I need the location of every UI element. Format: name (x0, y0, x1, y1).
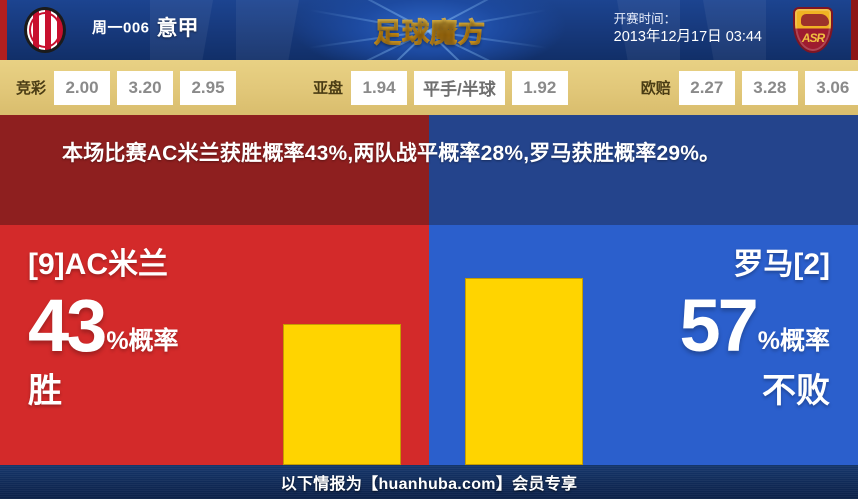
kickoff-time: 2013年12月17日 03:44 (614, 28, 762, 47)
away-probability-row: 57 %概率 (679, 289, 830, 363)
odds-cell-draw[interactable]: 3.28 (742, 71, 798, 105)
odds-bar: 竞彩 2.00 3.20 2.95 亚盘 1.94 平手/半球 1.92 欧赔 … (0, 60, 858, 115)
home-outcome-label: 胜 (28, 369, 179, 413)
odds-cell-away[interactable]: 2.95 (180, 71, 236, 105)
home-probability-value: 43 (28, 289, 104, 363)
odds-cell-home[interactable]: 1.94 (351, 71, 407, 105)
home-team-name: [9]AC米兰 (28, 245, 179, 285)
odds-cell-away[interactable]: 1.92 (512, 71, 568, 105)
odds-cell-handicap[interactable]: 平手/半球 (414, 71, 505, 105)
infographic-root: 周一006意甲 足球魔方 开赛时间： 2013年12月17日 03:44 ASR… (0, 0, 858, 499)
footer-text: 以下情报为【huanhuba.com】会员专享 (281, 470, 578, 494)
summary-band: 本场比赛AC米兰获胜概率43%,两队战平概率28%,罗马获胜概率29%。 (0, 115, 858, 225)
home-probability-bar (283, 324, 401, 465)
site-logo-text: 足球魔方 (374, 11, 486, 50)
odds-group-european: 欧赔 2.27 3.28 3.06 (641, 71, 858, 105)
away-team-crest-icon: ASR (790, 7, 836, 53)
kickoff-block: 开赛时间： 2013年12月17日 03:44 (614, 11, 762, 47)
odds-cell-home[interactable]: 2.27 (679, 71, 735, 105)
home-team-crest-icon (22, 7, 68, 53)
probability-chart: [9]AC米兰 43 %概率 胜 罗马[2] 57 %概率 不败 (0, 225, 858, 465)
away-stats: 罗马[2] 57 %概率 不败 (679, 245, 830, 413)
summary-text: 本场比赛AC米兰获胜概率43%,两队战平概率28%,罗马获胜概率29%。 (62, 137, 804, 171)
match-label: 周一006意甲 (92, 12, 199, 42)
site-logo: 足球魔方 (355, 8, 505, 52)
away-probability-bar (465, 278, 583, 465)
header-bar: 周一006意甲 足球魔方 开赛时间： 2013年12月17日 03:44 ASR (0, 0, 858, 60)
odds-cell-away[interactable]: 3.06 (805, 71, 858, 105)
footer-bar: 以下情报为【huanhuba.com】会员专享 (0, 465, 858, 499)
odds-group-label: 亚盘 (313, 77, 343, 98)
away-probability-value: 57 (679, 289, 755, 363)
header-left-edge (0, 0, 7, 60)
odds-group-asian-handicap: 亚盘 1.94 平手/半球 1.92 (313, 71, 575, 105)
match-round: 周一006 (92, 20, 150, 37)
home-probability-row: 43 %概率 (28, 289, 179, 363)
away-team-name: 罗马[2] (679, 245, 830, 285)
home-stats: [9]AC米兰 43 %概率 胜 (28, 245, 179, 413)
odds-group-label: 竞彩 (16, 77, 46, 98)
odds-group-jingcai: 竞彩 2.00 3.20 2.95 (16, 71, 243, 105)
odds-group-label: 欧赔 (641, 77, 671, 98)
header-right-edge (851, 0, 858, 60)
odds-cell-home[interactable]: 2.00 (54, 71, 110, 105)
kickoff-label: 开赛时间： (614, 11, 762, 28)
odds-cell-draw[interactable]: 3.20 (117, 71, 173, 105)
away-probability-suffix: %概率 (758, 329, 830, 363)
away-outcome-label: 不败 (679, 369, 830, 413)
home-probability-suffix: %概率 (106, 329, 178, 363)
league-name: 意甲 (157, 17, 199, 40)
